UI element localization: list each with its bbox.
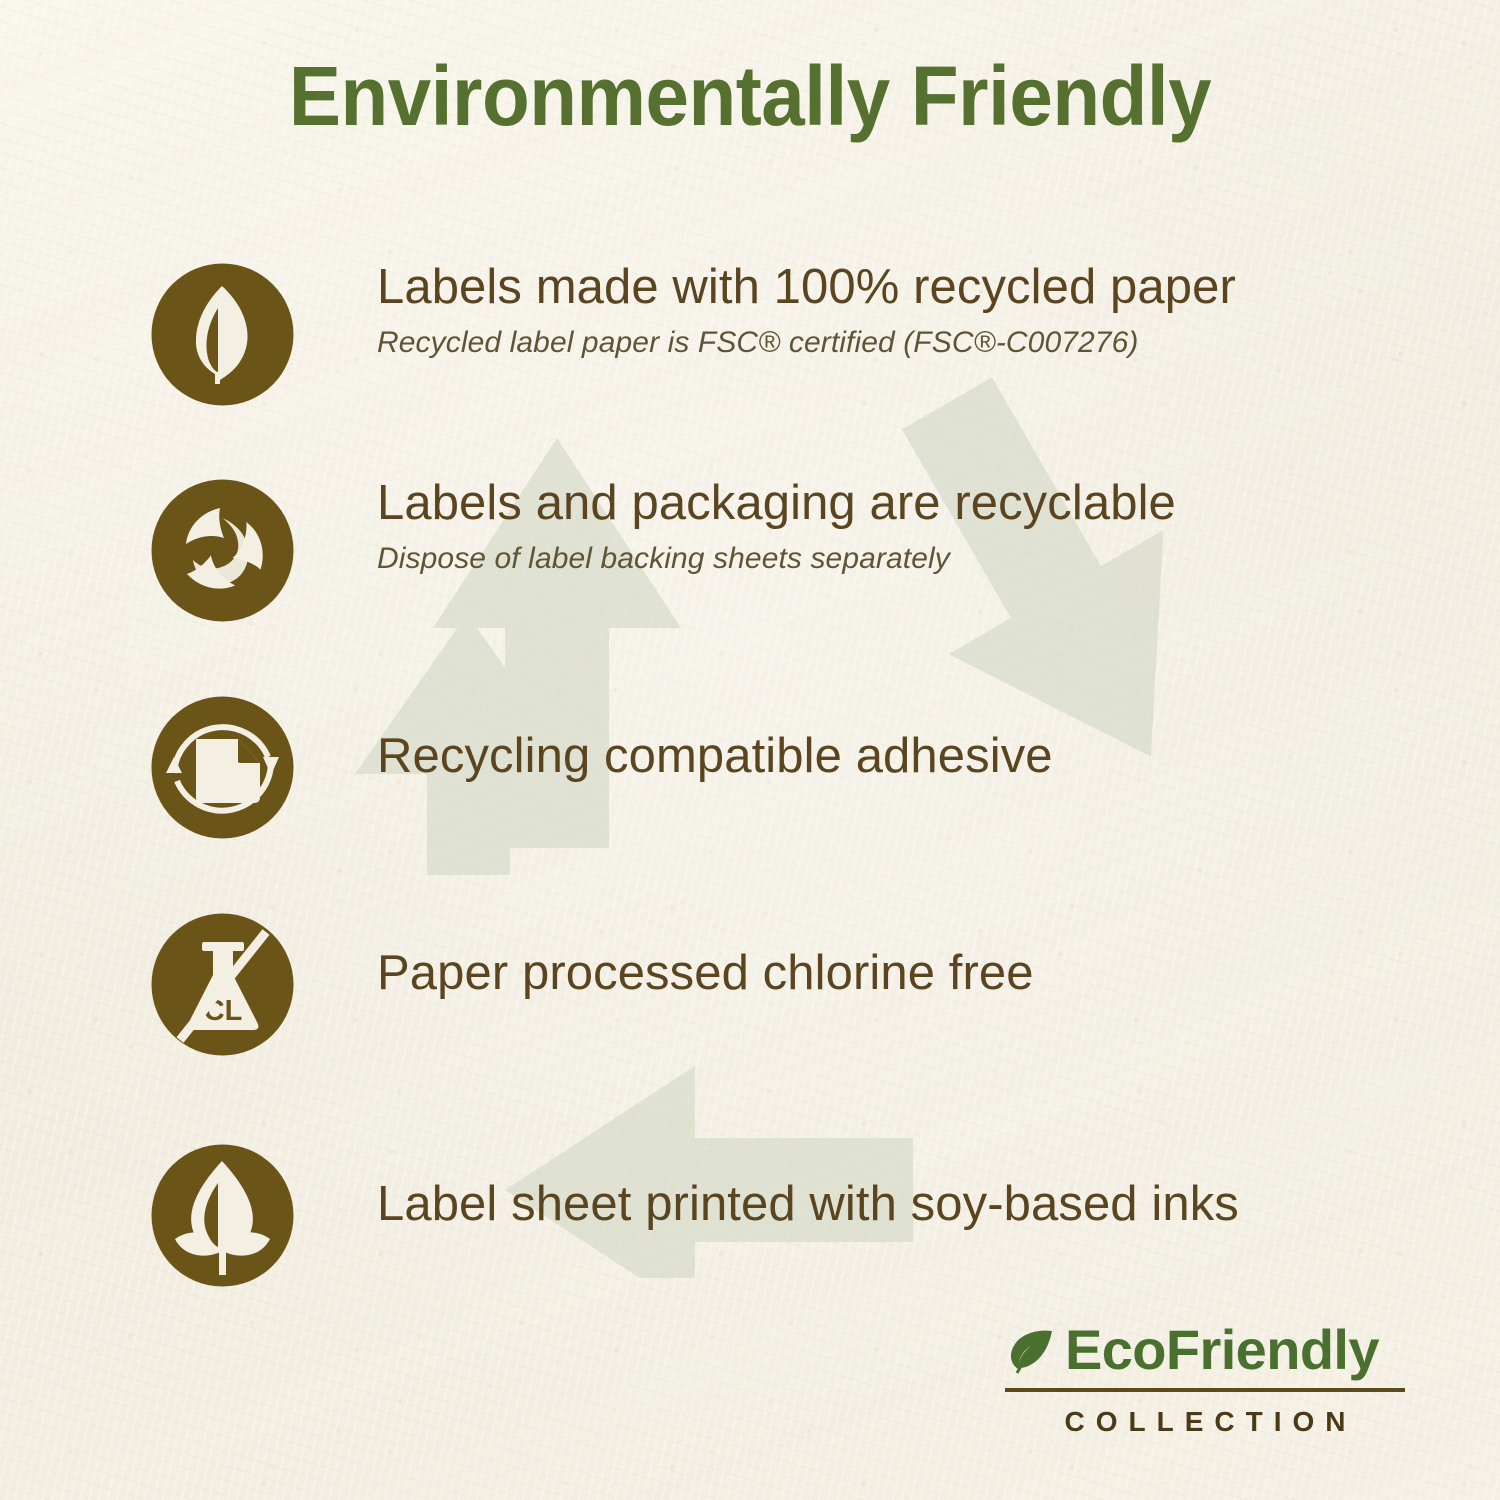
brand-subtitle: COLLECTION — [1005, 1406, 1405, 1438]
brand-logo-top: EcoFriendly — [1005, 1322, 1405, 1378]
feature-text: Labels and packaging are recyclable Disp… — [377, 478, 1176, 576]
feature-row: Label sheet printed with soy-based inks — [150, 1143, 1380, 1288]
poster-canvas: Environmentally Friendly Labels made wit… — [0, 0, 1500, 1500]
feature-headline: Label sheet printed with soy-based inks — [377, 1179, 1239, 1231]
feature-text: Paper processed chlorine free — [377, 912, 1034, 1000]
feature-headline: Recycling compatible adhesive — [377, 731, 1053, 783]
feature-text: Label sheet printed with soy-based inks — [377, 1143, 1239, 1231]
feature-subline: Recycled label paper is FSC® certified (… — [377, 326, 1236, 360]
brand-logo: EcoFriendly COLLECTION — [1005, 1322, 1405, 1438]
feature-row: CL Paper processed chlorine free — [150, 912, 1380, 1057]
feature-headline: Labels made with 100% recycled paper — [377, 262, 1236, 314]
feature-headline: Labels and packaging are recyclable — [377, 478, 1176, 530]
document-recycle-arrows-icon — [150, 695, 295, 840]
feature-text: Recycling compatible adhesive — [377, 695, 1053, 783]
brand-name: EcoFriendly — [1065, 1322, 1379, 1378]
feature-row: Labels and packaging are recyclable Disp… — [150, 478, 1380, 623]
brand-divider — [1005, 1388, 1405, 1392]
feature-subline: Dispose of label backing sheets separate… — [377, 542, 1176, 576]
feature-row: Labels made with 100% recycled paper Rec… — [150, 262, 1380, 407]
no-chlorine-flask-icon: CL — [150, 912, 295, 1057]
leaf-icon — [150, 262, 295, 407]
page-title: Environmentally Friendly — [53, 48, 1448, 145]
feature-text: Labels made with 100% recycled paper Rec… — [377, 262, 1236, 360]
leaf-icon — [1005, 1324, 1057, 1376]
feature-row: Recycling compatible adhesive — [150, 695, 1380, 840]
three-leaves-recycle-icon — [150, 478, 295, 623]
feature-headline: Paper processed chlorine free — [377, 948, 1034, 1000]
soy-droplet-plant-icon — [150, 1143, 295, 1288]
